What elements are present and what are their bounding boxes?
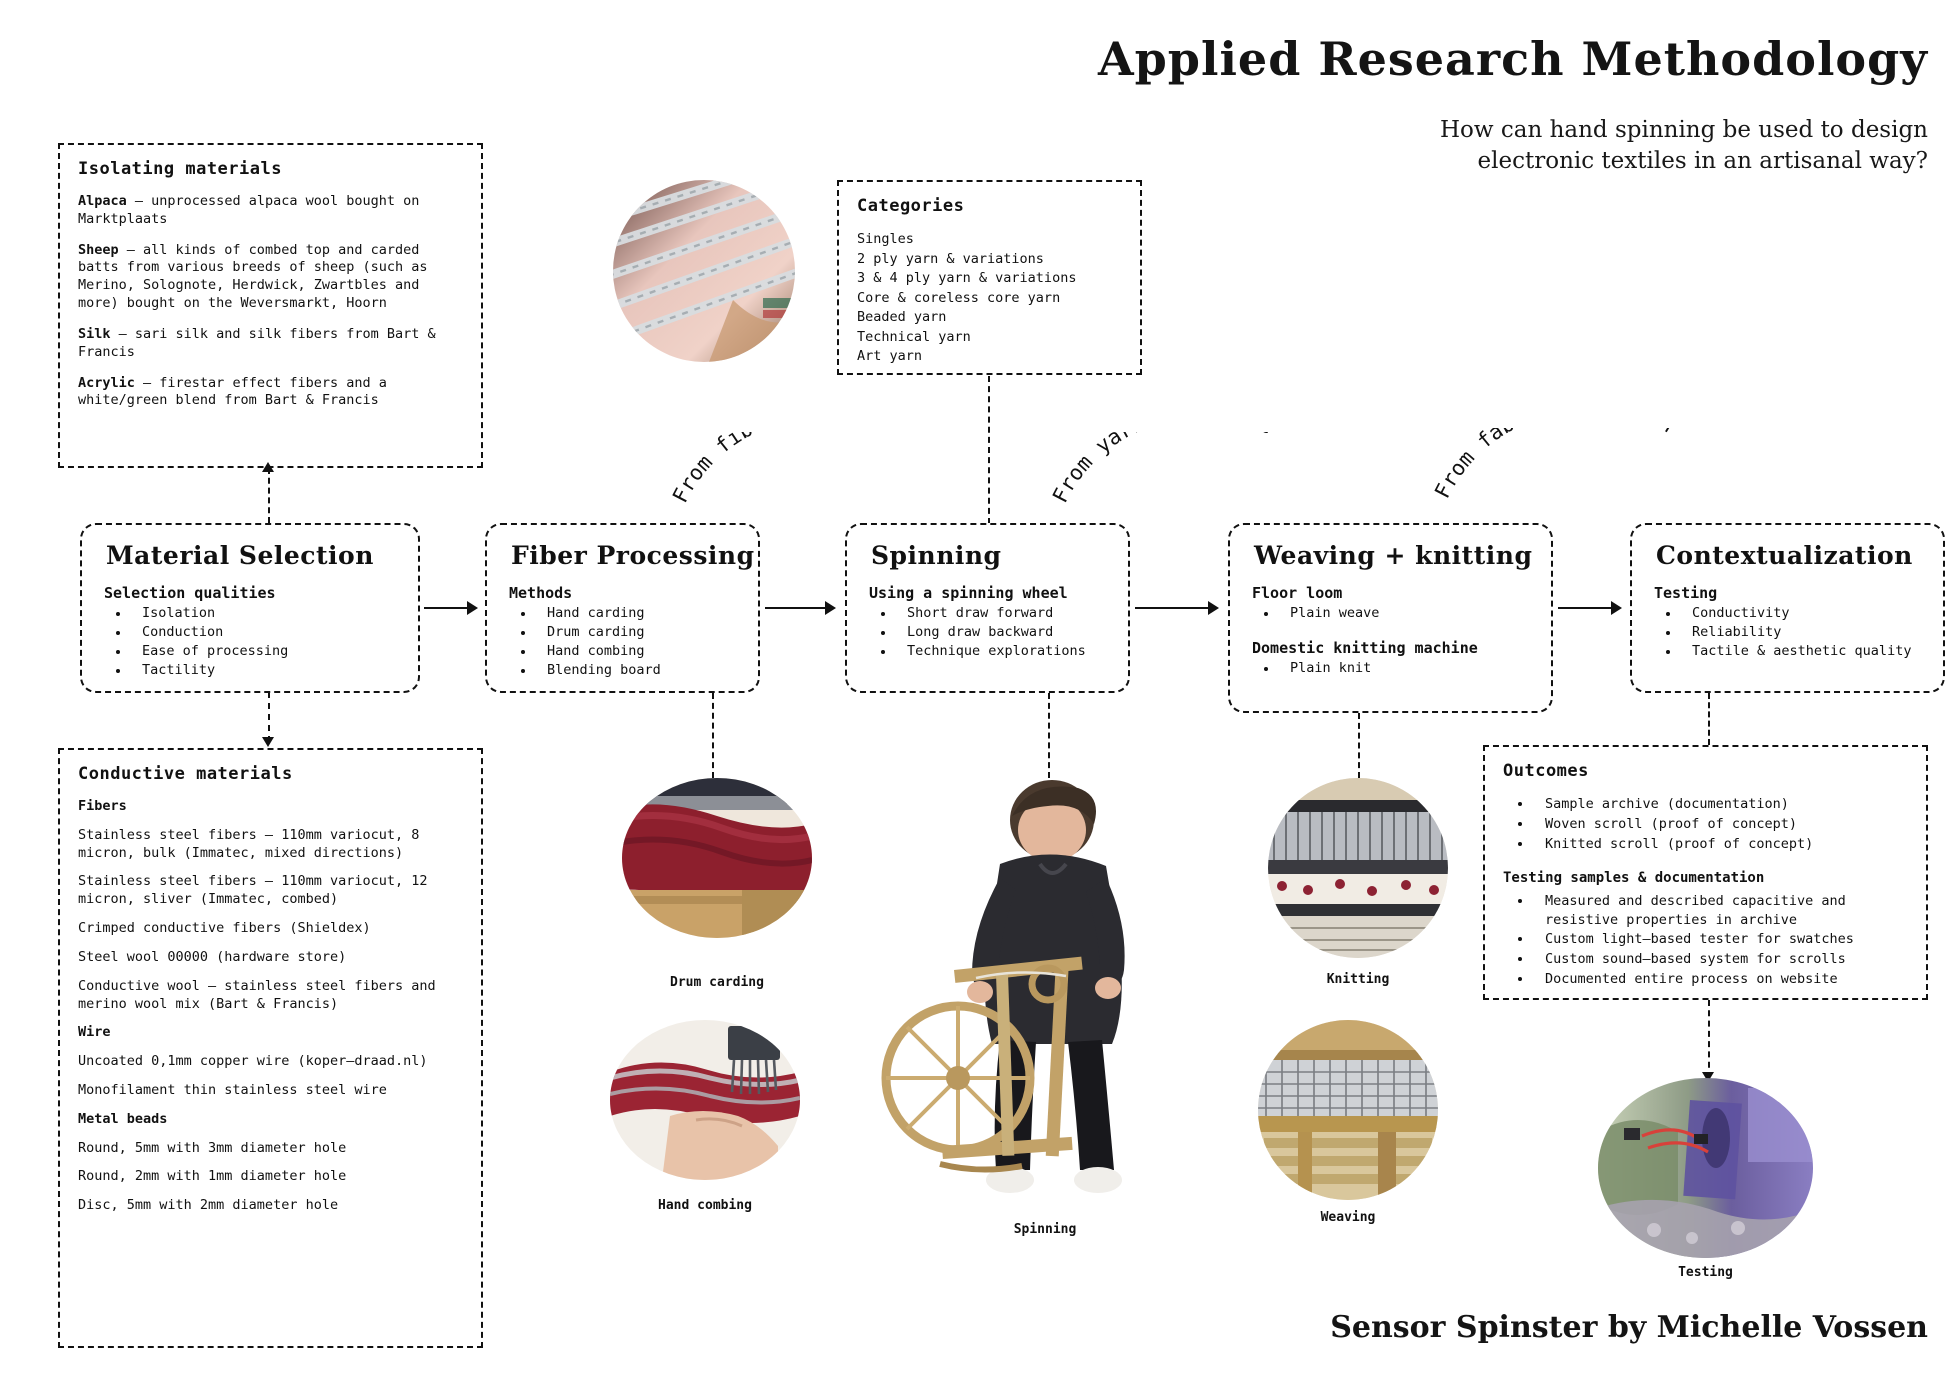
stage-title: Fiber Processing	[511, 541, 740, 570]
hand-combing-image	[610, 1020, 800, 1180]
conductive-subheading: Fibers	[78, 798, 463, 816]
conductive-materials-panel: Conductive materials Fibers Stainless st…	[58, 748, 483, 1348]
arc-label-fabric-to-sensor: From fabric to sensor	[1430, 428, 1720, 518]
arrow-head-2	[825, 601, 836, 615]
outcomes-list: Sample archive (documentation) Woven scr…	[1509, 795, 1908, 854]
arrow-line-2	[765, 607, 827, 609]
connector-isolating-to-material	[268, 468, 270, 523]
drum-carding-image	[622, 778, 812, 938]
page-subtitle: How can hand spinning be used to design …	[1440, 115, 1928, 177]
stage-section-heading: Floor loom	[1252, 584, 1533, 602]
conductive-item: Uncoated 0,1mm copper wire (koper–draad.…	[78, 1053, 463, 1071]
stage-list-item: Technique explorations	[895, 642, 1110, 661]
stage-list-item: Hand combing	[535, 642, 740, 661]
hand-combing-photo	[610, 1020, 800, 1180]
testing-image	[1598, 1078, 1813, 1258]
conductive-item: Steel wool 00000 (hardware store)	[78, 949, 463, 967]
stage-list-item: Plain weave	[1278, 604, 1533, 623]
outcome-sub-item: Custom sound–based system for scrolls	[1533, 950, 1908, 969]
subheading-metal-beads: Metal beads	[78, 1111, 167, 1127]
stage-list-item: Conductivity	[1680, 604, 1925, 623]
subtitle-line-1: How can hand spinning be used to design	[1440, 115, 1928, 146]
arc-label-yarn-to-fabric: From yarn to fabric	[1048, 432, 1328, 522]
isolating-materials-entry: Sheep – all kinds of combed top and card…	[78, 242, 463, 313]
category-item: 2 ply yarn & variations	[857, 250, 1122, 270]
conductive-item: Crimped conductive fibers (Shieldex)	[78, 920, 463, 938]
drum-carding-photo	[622, 778, 812, 938]
page-title: Applied Research Methodology	[1098, 32, 1928, 86]
stage-list-item: Plain knit	[1278, 659, 1533, 678]
stage-material-selection[interactable]: Material Selection Selection qualities I…	[80, 523, 420, 693]
stage-section-heading: Selection qualities	[104, 584, 400, 602]
outcome-sub-item: Measured and described capacitive and re…	[1533, 892, 1908, 930]
weaving-caption: Weaving	[1258, 1210, 1438, 1225]
stage-list-item: Tactility	[130, 661, 400, 680]
stage-list-item: Tactile & aesthetic quality	[1680, 642, 1925, 661]
stage-list-item: Reliability	[1680, 623, 1925, 642]
conductive-subheading: Metal beads	[78, 1111, 463, 1129]
connector-outcomes-to-testing	[1708, 1000, 1710, 1078]
yarn-photo-image	[613, 180, 795, 362]
outcome-sub-item: Custom light–based tester for swatches	[1533, 930, 1908, 949]
categories-heading: Categories	[857, 196, 1122, 216]
knitting-photo	[1268, 778, 1448, 958]
stage-list-item: Ease of processing	[130, 642, 400, 661]
weaving-image	[1258, 1020, 1438, 1200]
outcome-item: Sample archive (documentation)	[1533, 795, 1908, 814]
conductive-item: Monofilament thin stainless steel wire	[78, 1082, 463, 1100]
arrow-head-3	[1208, 601, 1219, 615]
stage-title: Contextualization	[1656, 541, 1925, 570]
stage-title: Spinning	[871, 541, 1110, 570]
stage-section-heading: Domestic knitting machine	[1252, 639, 1533, 657]
category-item: Beaded yarn	[857, 308, 1122, 328]
author-signature: Sensor Spinster by Michelle Vossen	[1330, 1310, 1928, 1345]
categories-list: Singles 2 ply yarn & variations 3 & 4 pl…	[857, 230, 1122, 367]
connector-spinning-to-photo	[1048, 693, 1050, 778]
subheading-fibers: Fibers	[78, 798, 127, 814]
arc-text-1: From fiber to yarn	[668, 432, 884, 507]
arrow-head-1	[467, 601, 478, 615]
stage-list-item: Conduction	[130, 623, 400, 642]
connector-categories-to-spinning	[988, 376, 990, 524]
connector-weaving-to-photo	[1358, 713, 1360, 778]
stage-section-list: Short draw forward Long draw backward Te…	[873, 604, 1110, 661]
stage-weaving-knitting[interactable]: Weaving + knitting Floor loom Plain weav…	[1228, 523, 1553, 713]
outcome-item: Woven scroll (proof of concept)	[1533, 815, 1908, 834]
arrow-head-4	[1611, 601, 1622, 615]
svg-text:From fiber to yarn: From fiber to yarn	[668, 432, 884, 507]
knitting-caption: Knitting	[1268, 972, 1448, 987]
category-item: Core & coreless core yarn	[857, 289, 1122, 309]
stage-section-list: Conductivity Reliability Tactile & aesth…	[1658, 604, 1925, 661]
connector-contextualization-to-outcomes	[1708, 693, 1710, 745]
connector-material-to-conductive	[268, 692, 270, 742]
outcomes-heading: Outcomes	[1503, 761, 1908, 781]
stage-title: Material Selection	[106, 541, 400, 570]
conductive-item: Disc, 5mm with 2mm diameter hole	[78, 1197, 463, 1215]
stage-list-item: Short draw forward	[895, 604, 1110, 623]
arc-label-fiber-to-yarn: From fiber to yarn	[668, 432, 948, 522]
entry-label: Acrylic	[78, 375, 135, 391]
stage-section-heading: Methods	[509, 584, 740, 602]
hand-combing-caption: Hand combing	[610, 1198, 800, 1213]
entry-text: – unprocessed alpaca wool bought on Mark…	[78, 193, 419, 227]
conductive-item: Round, 5mm with 3mm diameter hole	[78, 1140, 463, 1158]
outcome-sub-item: Documented entire process on website	[1533, 970, 1908, 989]
subtitle-line-2: electronic textiles in an artisanal way?	[1440, 146, 1928, 177]
testing-caption: Testing	[1598, 1265, 1813, 1280]
isolating-materials-entry: Silk – sari silk and silk fibers from Ba…	[78, 326, 463, 362]
outcomes-sub-list: Measured and described capacitive and re…	[1509, 892, 1908, 989]
stage-list-item: Long draw backward	[895, 623, 1110, 642]
spinning-photo	[880, 778, 1210, 1218]
stage-list-item: Blending board	[535, 661, 740, 680]
weaving-photo	[1258, 1020, 1438, 1200]
yarn-photo	[613, 180, 795, 362]
isolating-materials-panel: Isolating materials Alpaca – unprocessed…	[58, 143, 483, 468]
stage-section-heading: Testing	[1654, 584, 1925, 602]
svg-text:From fabric to sensor: From fabric to sensor	[1430, 428, 1683, 502]
stage-fiber-processing[interactable]: Fiber Processing Methods Hand carding Dr…	[485, 523, 760, 693]
outcomes-sub-heading: Testing samples & documentation	[1503, 870, 1908, 886]
conductive-item: Stainless steel fibers – 110mm variocut,…	[78, 873, 463, 909]
arc-text-3: From fabric to sensor	[1430, 428, 1683, 502]
conductive-item: Round, 2mm with 1mm diameter hole	[78, 1168, 463, 1186]
drum-carding-caption: Drum carding	[622, 975, 812, 990]
arc-text-2: From yarn to fabric	[1048, 432, 1277, 507]
stage-list-item: Hand carding	[535, 604, 740, 623]
entry-label: Silk	[78, 326, 111, 342]
categories-panel: Categories Singles 2 ply yarn & variatio…	[837, 180, 1142, 375]
arrow-line-3	[1135, 607, 1210, 609]
spinning-image	[880, 778, 1210, 1218]
testing-photo	[1598, 1078, 1813, 1258]
category-item: Singles	[857, 230, 1122, 250]
conductive-materials-heading: Conductive materials	[78, 764, 463, 784]
stage-contextualization[interactable]: Contextualization Testing Conductivity R…	[1630, 523, 1945, 693]
stage-section-heading: Using a spinning wheel	[869, 584, 1110, 602]
knitting-image	[1268, 778, 1448, 958]
stage-list-item: Drum carding	[535, 623, 740, 642]
stage-section-list: Isolation Conduction Ease of processing …	[108, 604, 400, 681]
spinning-caption: Spinning	[880, 1222, 1210, 1237]
entry-label: Alpaca	[78, 193, 127, 209]
conductive-item: Conductive wool – stainless steel fibers…	[78, 978, 463, 1014]
isolating-materials-entry: Acrylic – firestar effect fibers and a w…	[78, 375, 463, 411]
connector-arrow-down	[262, 737, 274, 747]
stage-list-item: Isolation	[130, 604, 400, 623]
arrow-line-1	[424, 607, 469, 609]
conductive-item: Stainless steel fibers – 110mm variocut,…	[78, 827, 463, 863]
stage-section-list: Hand carding Drum carding Hand combing B…	[513, 604, 740, 681]
category-item: Art yarn	[857, 347, 1122, 367]
stage-section-list: Plain weave	[1256, 604, 1533, 623]
entry-label: Sheep	[78, 242, 119, 258]
connector-arrow-up	[262, 462, 274, 472]
svg-text:From yarn to fabric: From yarn to fabric	[1048, 432, 1277, 507]
category-item: 3 & 4 ply yarn & variations	[857, 269, 1122, 289]
outcomes-panel: Outcomes Sample archive (documentation) …	[1483, 745, 1928, 1000]
stage-title: Weaving + knitting	[1254, 541, 1533, 570]
subheading-wire: Wire	[78, 1024, 111, 1040]
stage-spinning[interactable]: Spinning Using a spinning wheel Short dr…	[845, 523, 1130, 693]
stage-section-list: Plain knit	[1256, 659, 1533, 678]
connector-fiber-to-photos	[712, 693, 714, 778]
entry-text: – all kinds of combed top and carded bat…	[78, 242, 428, 311]
entry-text: – sari silk and silk fibers from Bart & …	[78, 326, 436, 360]
conductive-subheading: Wire	[78, 1024, 463, 1042]
isolating-materials-heading: Isolating materials	[78, 159, 463, 179]
category-item: Technical yarn	[857, 328, 1122, 348]
outcome-item: Knitted scroll (proof of concept)	[1533, 835, 1908, 854]
isolating-materials-entry: Alpaca – unprocessed alpaca wool bought …	[78, 193, 463, 229]
arrow-line-4	[1558, 607, 1613, 609]
